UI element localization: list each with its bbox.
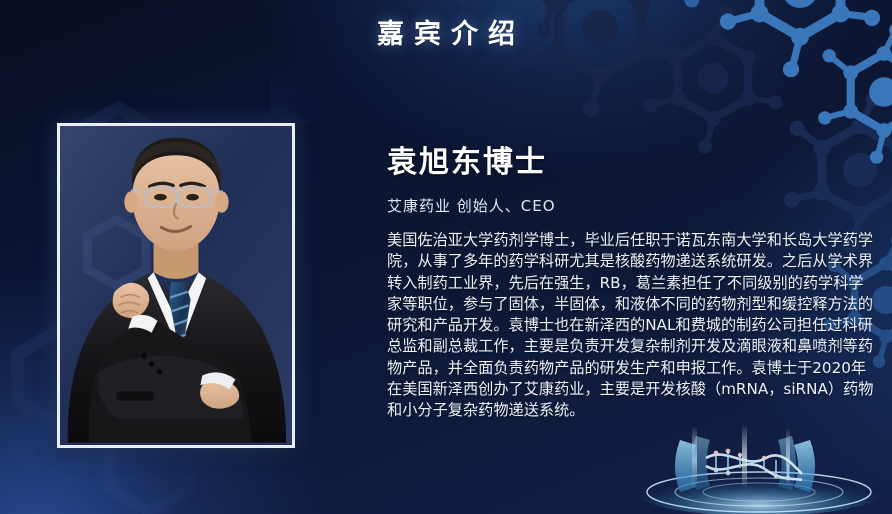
speaker-bio: 美国佐治亚大学药剂学博士，毕业后任职于诺瓦东南大学和长岛大学药学院，从事了多年的…: [387, 230, 852, 422]
speaker-bio-line: 家等职位，参与了固体，半固体，和液体不同的药物剂型和缓控释方法的: [387, 294, 852, 315]
speaker-bio-line: 院，从事了多年的药学科研尤其是核酸药物递送系统研发。之后从学术界: [387, 251, 852, 272]
speaker-role: 艾康药业 创始人、CEO: [387, 195, 852, 216]
avatar: [60, 126, 292, 443]
guest-introduction-slide: 嘉宾介绍: [0, 0, 892, 514]
speaker-bio-line: 和小分子复杂药物递送系统。: [387, 400, 852, 421]
speaker-info: 袁旭东博士 艾康药业 创始人、CEO 美国佐治亚大学药剂学博士，毕业后任职于诺瓦…: [387, 137, 852, 422]
speaker-bio-line: 转入制药工业界，先后在强生，RB，葛兰素担任了不同级别的药学科学: [387, 273, 852, 294]
speaker-bio-line: 物产品，并全面负责药物产品的研发生产和申报工作。袁博士于2020年: [387, 358, 852, 379]
speaker-bio-line: 美国佐治亚大学药剂学博士，毕业后任职于诺瓦东南大学和长岛大学药学: [387, 230, 852, 251]
speaker-bio-line: 在美国新泽西创办了艾康药业，主要是开发核酸（mRNA，siRNA）药物: [387, 379, 852, 400]
speaker-name: 袁旭东博士: [387, 137, 852, 181]
speaker-bio-line: 总监和副总裁工作，主要是负责开发复杂制剂开发及滴眼液和鼻喷剂等药: [387, 336, 852, 357]
speaker-photo-frame: [57, 123, 295, 448]
speaker-bio-line: 研究和产品开发。袁博士也在新泽西的NAL和费城的制药公司担任过科研: [387, 315, 852, 336]
page-title: 嘉宾介绍: [0, 12, 892, 51]
